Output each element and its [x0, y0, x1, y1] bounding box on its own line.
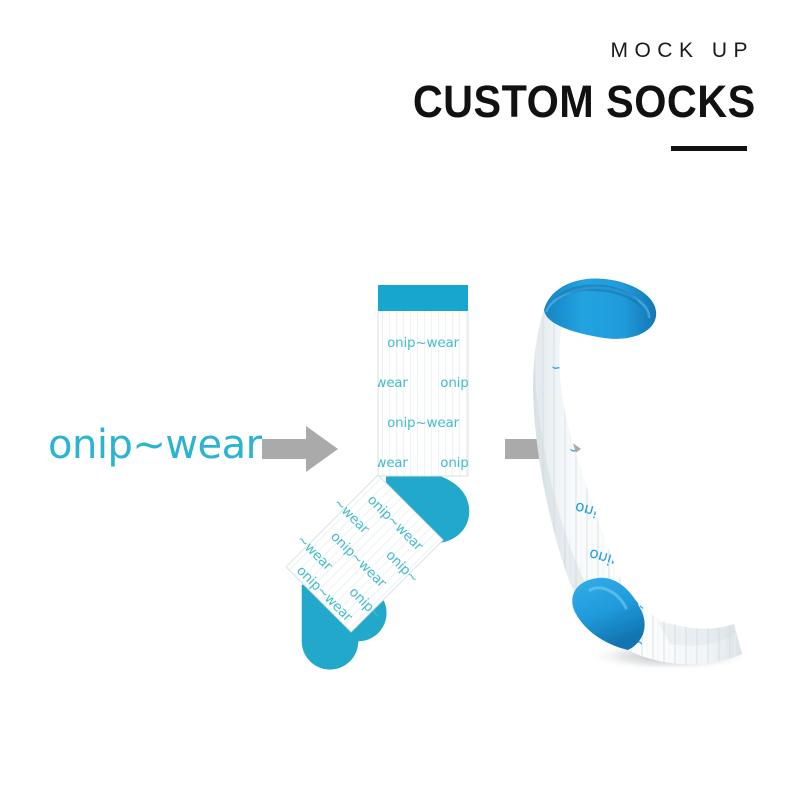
leg-text-row-4b: onip~ [440, 455, 479, 471]
rendered-sock-mockup: onip~wear ~wear onip~ onip~wear onip~ ~w… [520, 272, 760, 672]
brand-logo-text: onip~wear [48, 425, 262, 465]
flat-sock-cuff [378, 285, 468, 311]
leg-text-row-4a: ~wear [364, 455, 408, 471]
svg-text:onip~: onip~ [664, 529, 712, 561]
flat-sock-leg: onip~wear ~wear onip~ onip~wear ~wear on… [364, 310, 479, 476]
header-kicker: MOCK UP [383, 40, 756, 61]
svg-text:onip~wear: onip~wear [567, 397, 652, 429]
header-underline-rule [671, 146, 747, 151]
leg-text-row-1: onip~wear [387, 335, 459, 351]
leg-text-row-2b: onip~ [440, 375, 479, 391]
header: MOCK UP CUSTOM SOCKS [383, 40, 756, 151]
mockup-canvas: MOCK UP CUSTOM SOCKS onip~wear [0, 0, 800, 800]
page-title: CUSTOM SOCKS [413, 79, 756, 124]
svg-text:~wear: ~wear [688, 470, 741, 504]
brand-logo: onip~wear [48, 415, 258, 475]
svg-text:onip~: onip~ [654, 419, 702, 450]
svg-text:~wear: ~wear [678, 570, 731, 607]
sock3d-heel [688, 479, 754, 568]
svg-text:onip~: onip~ [631, 366, 679, 396]
leg-text-row-2a: ~wear [364, 375, 408, 391]
leg-text-row-3: onip~wear [387, 415, 459, 431]
flat-sock-template: onip~wear ~wear onip~ onip~wear ~wear on… [270, 275, 500, 665]
svg-text:onip~wear: onip~wear [607, 453, 691, 493]
sock3d-toe [572, 578, 644, 650]
